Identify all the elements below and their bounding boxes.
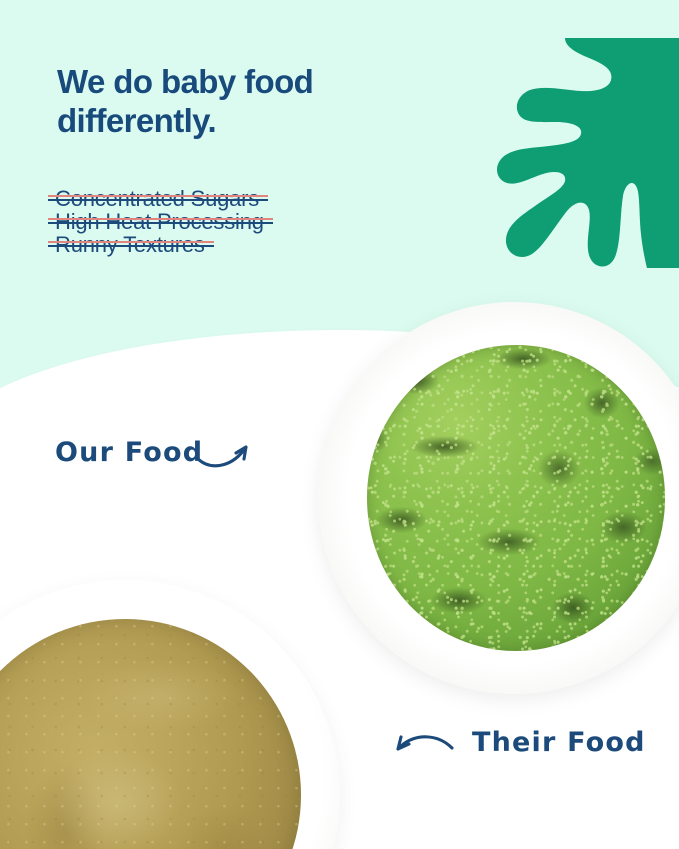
their-food-bowl-image: [0, 580, 340, 849]
curved-arrow-left-icon: [392, 722, 454, 766]
promo-graphic: We do baby food differently. Concentrate…: [0, 0, 679, 849]
list-item-label: Concentrated Sugars: [55, 186, 259, 211]
page-title: We do baby food differently.: [57, 62, 457, 141]
their-food-label: Their Food: [472, 727, 646, 758]
green-leaf-icon: [497, 38, 679, 268]
our-food-bowl-image: [318, 302, 679, 694]
list-item-struck: High Heat Processing: [55, 211, 270, 233]
list-item-label: Runny Textures: [55, 232, 205, 257]
our-food-label: Our Food: [55, 437, 203, 468]
headline-line-2: differently.: [57, 101, 457, 140]
our-food-puree: [367, 345, 665, 651]
list-item-label: High Heat Processing: [55, 209, 264, 234]
curved-arrow-right-icon: [196, 430, 256, 476]
their-food-puree: [0, 619, 301, 849]
list-item-struck: Runny Textures: [55, 234, 211, 256]
headline-line-1: We do baby food: [57, 62, 457, 101]
excluded-attributes-list: Concentrated Sugars High Heat Processing…: [55, 188, 475, 257]
leaf-decoration: [497, 38, 679, 268]
list-item-struck: Concentrated Sugars: [55, 188, 265, 210]
